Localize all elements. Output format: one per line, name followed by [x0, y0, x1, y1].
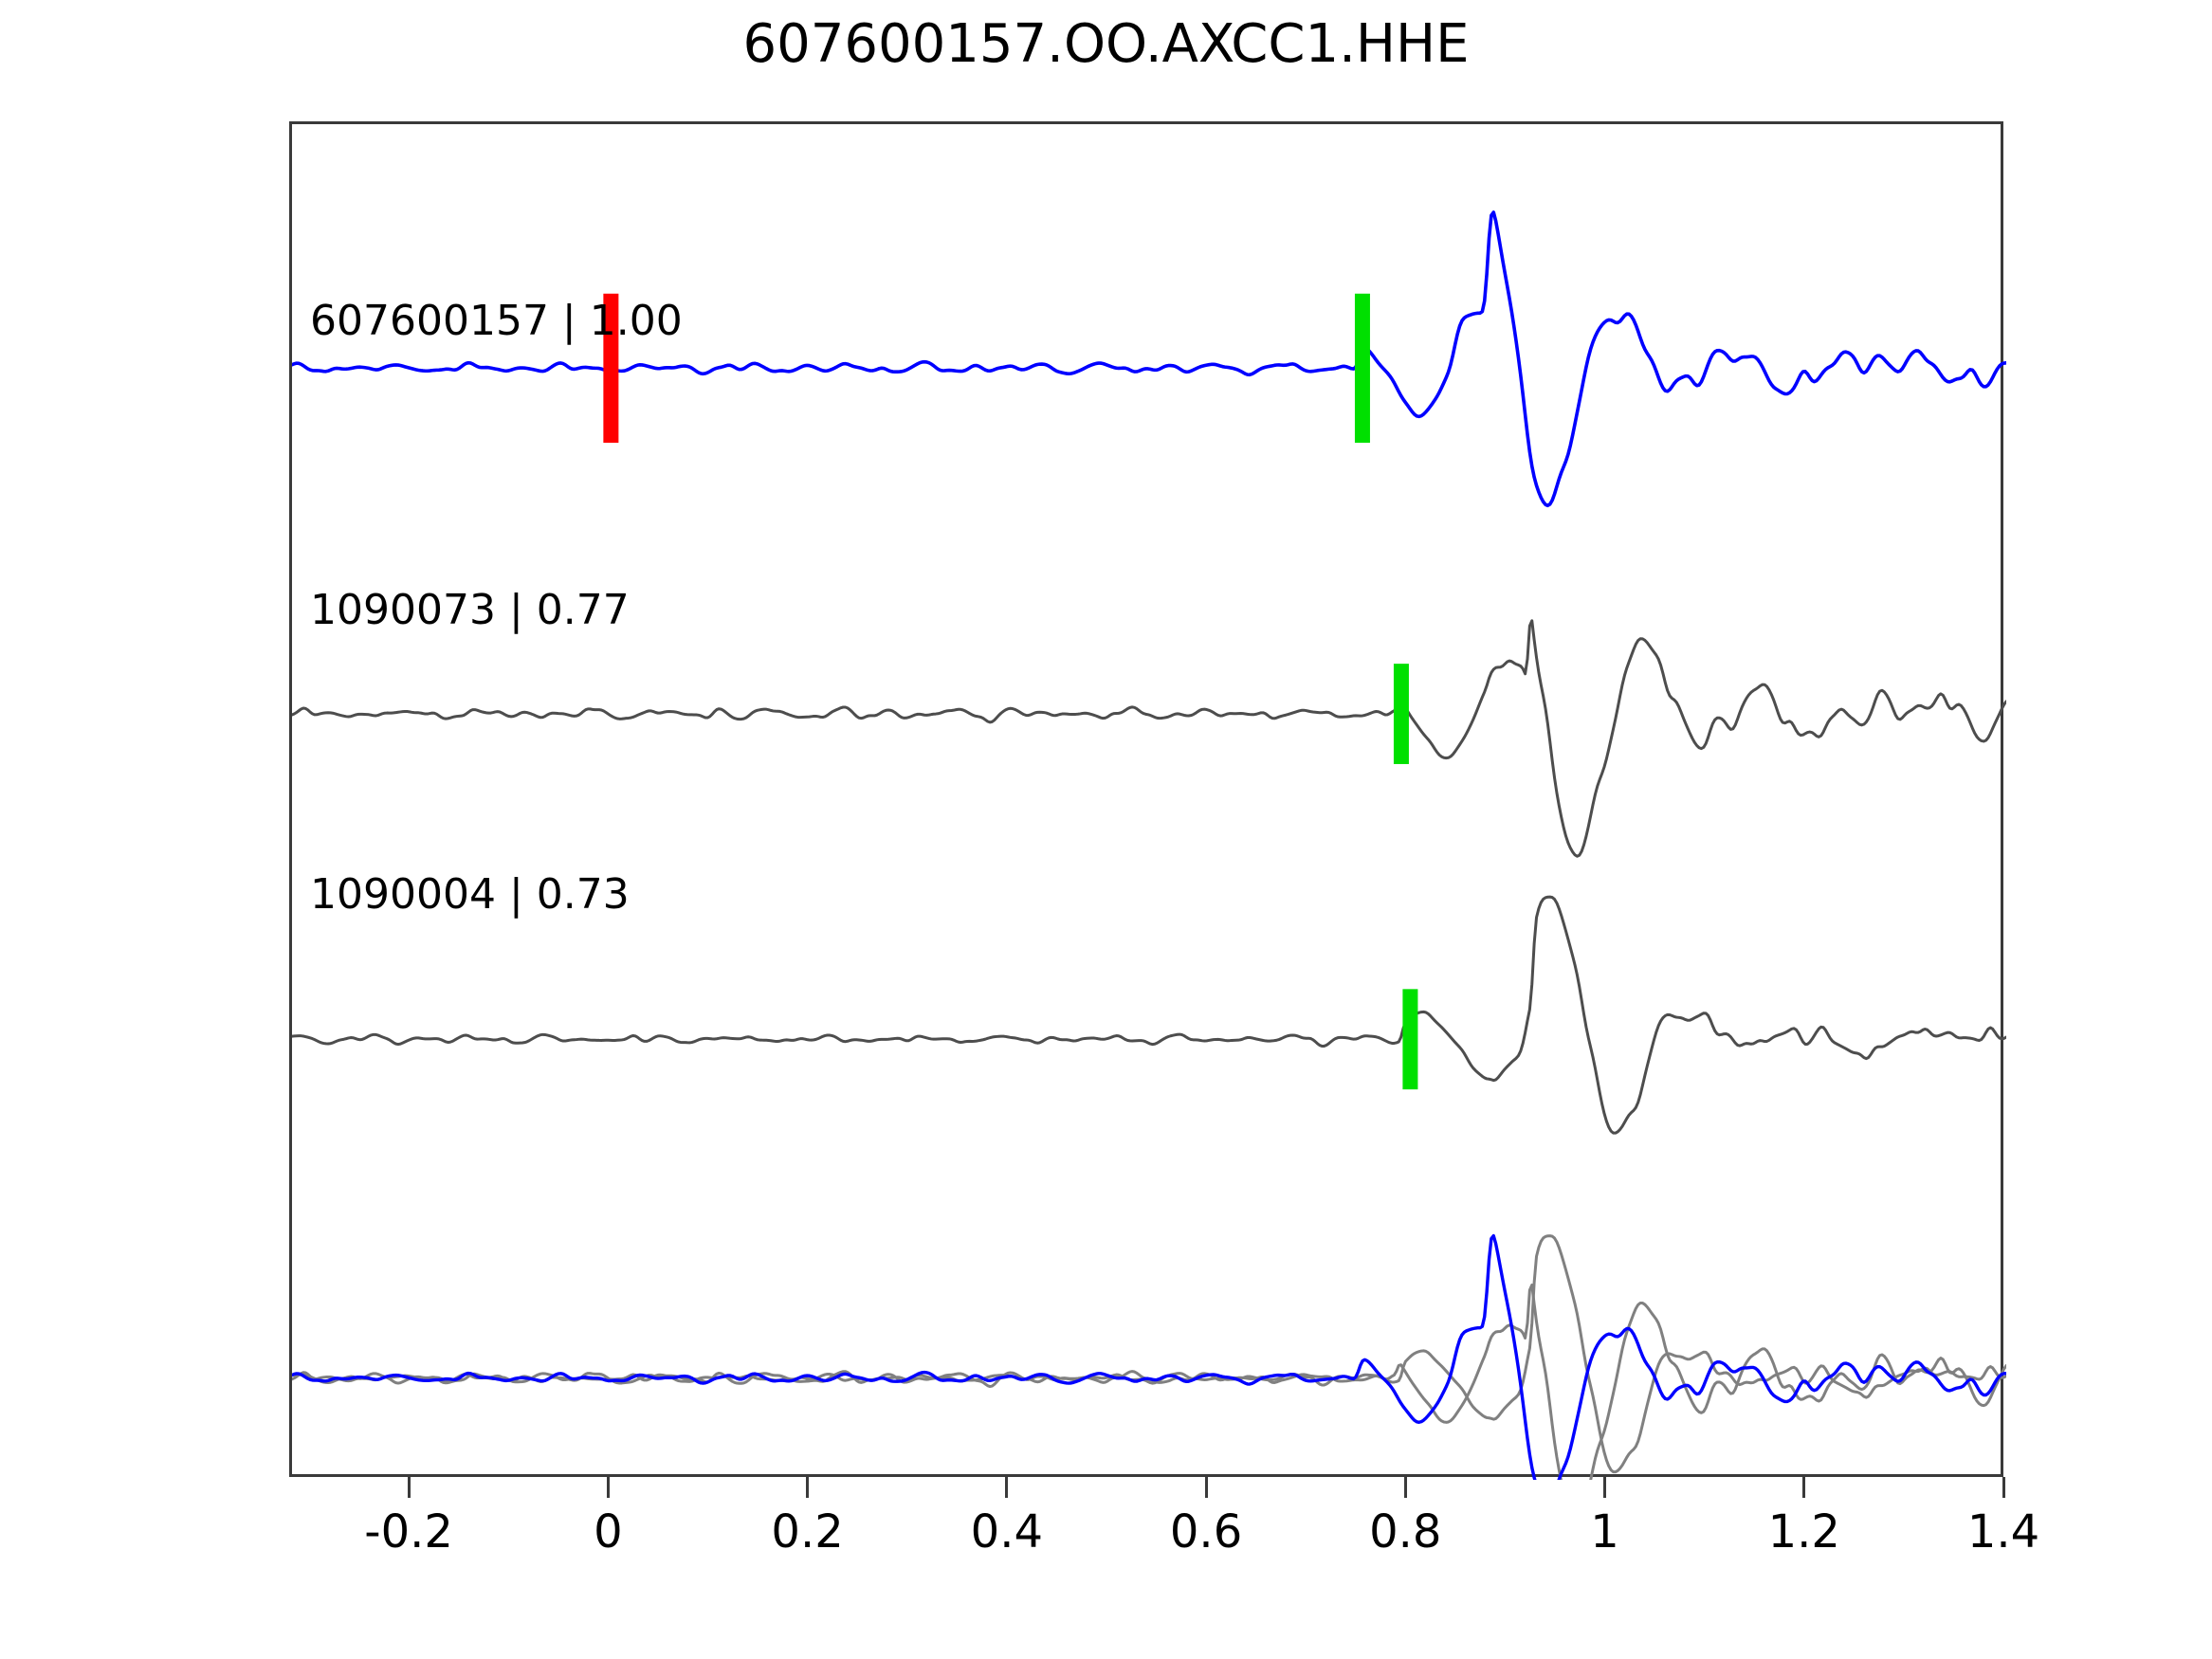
x-tick-mark-7: [1802, 1477, 1805, 1498]
trace-line-1090004: [292, 897, 2006, 1133]
x-axis-ticks: -0.200.20.40.60.811.21.4: [289, 1477, 2003, 1591]
trace-line-607600157: [292, 212, 2006, 505]
trace-label-1: 1090073 | 0.77: [310, 586, 630, 634]
overlay-trace-1090004: [292, 1236, 2006, 1472]
x-tick-mark-6: [1603, 1477, 1606, 1498]
x-tick-mark-5: [1404, 1477, 1407, 1498]
trace-label-0: 607600157 | 1.00: [310, 297, 683, 345]
x-tick-label-1: 0: [594, 1505, 623, 1559]
pick-marker-1090004: [1402, 989, 1417, 1089]
x-tick-label-4: 0.6: [1170, 1505, 1242, 1559]
seismic-waveform-figure: 607600157.OO.AXCC1.HHE 607600157 | 1.00 …: [0, 0, 2212, 1659]
x-tick-label-7: 1.2: [1768, 1505, 1840, 1559]
trace-label-2: 1090004 | 0.73: [310, 870, 630, 919]
page-title: 607600157.OO.AXCC1.HHE: [0, 13, 2212, 75]
pick-marker-1090073: [1394, 664, 1409, 764]
x-tick-label-3: 0.4: [971, 1505, 1043, 1559]
x-tick-label-8: 1.4: [1967, 1505, 2039, 1559]
x-tick-label-0: -0.2: [364, 1505, 453, 1559]
x-tick-mark-4: [1205, 1477, 1208, 1498]
trace-line-1090073: [292, 621, 2006, 856]
x-tick-label-6: 1: [1590, 1505, 1619, 1559]
x-tick-label-5: 0.8: [1369, 1505, 1441, 1559]
x-tick-mark-0: [408, 1477, 411, 1498]
x-tick-mark-2: [806, 1477, 809, 1498]
x-tick-mark-8: [2002, 1477, 2005, 1498]
x-tick-mark-1: [607, 1477, 610, 1498]
x-tick-label-2: 0.2: [771, 1505, 843, 1559]
pick-marker-607600157: [1355, 294, 1370, 443]
x-tick-mark-3: [1005, 1477, 1008, 1498]
